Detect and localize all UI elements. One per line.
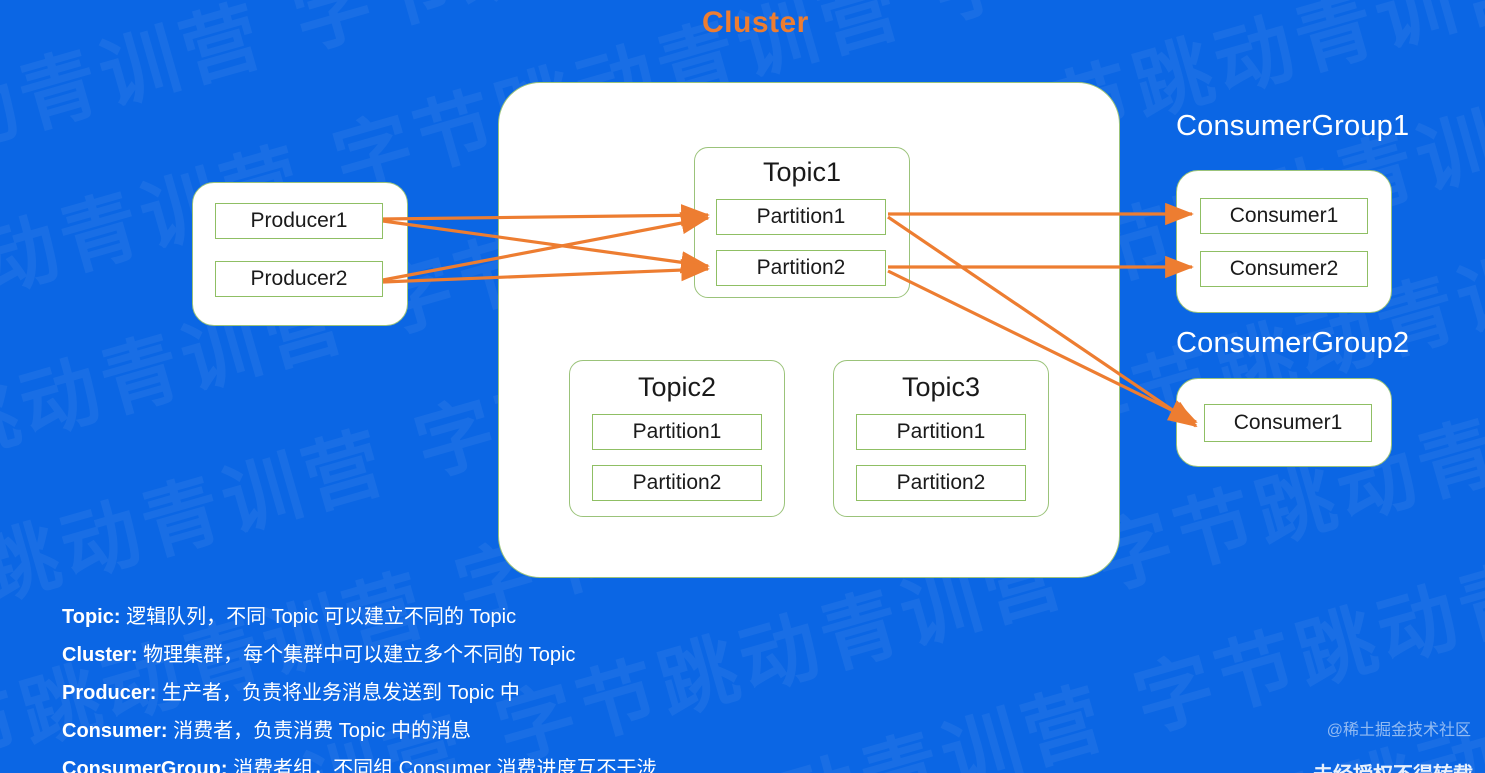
consumer-group-1-consumer-1-label: Consumer1 [1230,204,1339,228]
legend-item: Producer: 生产者，负责将业务消息发送到 Topic 中 [62,674,657,712]
topic-1-partition-2-box[interactable]: Partition2 [716,250,886,286]
topic-1-partition-1-box[interactable]: Partition1 [716,199,886,235]
diagram-canvas: 字节跳动青训营 字节跳动青训营 字节跳动青训营 字节跳动青训营 字节跳动青训营 … [0,0,1485,773]
topic-2-partition-1-label: Partition1 [633,420,722,444]
producer-1-box[interactable]: Producer1 [215,203,383,239]
legend-term: Consumer: [62,720,168,742]
consumer-group-1-container [1176,170,1392,313]
producer-2-label: Producer2 [251,267,348,291]
legend-term: ConsumerGroup: [62,758,228,773]
topic-3-title: Topic3 [833,372,1049,403]
legend-item: ConsumerGroup: 消费者组，不同组 Consumer 消费进度互不干… [62,750,657,773]
legend-term: Topic: [62,606,121,628]
legend-desc: 生产者，负责将业务消息发送到 Topic 中 [162,682,520,704]
topic-3-partition-2-label: Partition2 [897,471,986,495]
topic-1-title: Topic1 [694,157,910,188]
consumer-group-1-consumer-1-box[interactable]: Consumer1 [1200,198,1368,234]
topic-2-title: Topic2 [569,372,785,403]
legend-desc: 消费者，负责消费 Topic 中的消息 [173,720,471,742]
consumer-group-2-consumer-1-box[interactable]: Consumer1 [1204,404,1372,442]
attribution-notice: 未经授权不得转载 [1313,758,1473,773]
producer-1-label: Producer1 [251,209,348,233]
consumer-group-1-title: ConsumerGroup1 [1176,110,1409,143]
topic-3-partition-1-label: Partition1 [897,420,986,444]
topic-2-partition-2-label: Partition2 [633,471,722,495]
consumer-group-1-consumer-2-box[interactable]: Consumer2 [1200,251,1368,287]
legend-desc: 消费者组，不同组 Consumer 消费进度互不干涉 [233,758,656,773]
legend-desc: 物理集群，每个集群中可以建立多个不同的 Topic [143,644,575,666]
legend: Topic: 逻辑队列，不同 Topic 可以建立不同的 Topic Clust… [62,598,657,773]
consumer-group-1-consumer-2-label: Consumer2 [1230,257,1339,281]
topic-3-partition-1-box[interactable]: Partition1 [856,414,1026,450]
consumer-group-2-consumer-1-label: Consumer1 [1234,411,1343,435]
producer-2-box[interactable]: Producer2 [215,261,383,297]
attribution-handle: @稀土掘金技术社区 [1327,716,1471,740]
legend-item: Consumer: 消费者，负责消费 Topic 中的消息 [62,712,657,750]
topic-1-partition-2-label: Partition2 [757,256,846,280]
legend-item: Cluster: 物理集群，每个集群中可以建立多个不同的 Topic [62,636,657,674]
legend-term: Producer: [62,682,156,704]
legend-term: Cluster: [62,644,138,666]
topic-1-partition-1-label: Partition1 [757,205,846,229]
topic-2-partition-1-box[interactable]: Partition1 [592,414,762,450]
legend-desc: 逻辑队列，不同 Topic 可以建立不同的 Topic [126,606,516,628]
legend-item: Topic: 逻辑队列，不同 Topic 可以建立不同的 Topic [62,598,657,636]
consumer-group-2-title: ConsumerGroup2 [1176,327,1409,360]
topic-3-partition-2-box[interactable]: Partition2 [856,465,1026,501]
cluster-title: Cluster [702,6,809,40]
topic-2-partition-2-box[interactable]: Partition2 [592,465,762,501]
